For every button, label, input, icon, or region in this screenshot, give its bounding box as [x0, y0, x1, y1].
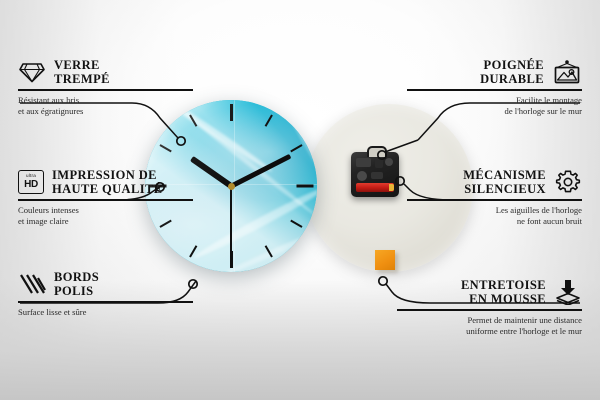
feature-verre-trempe: VERRE TREMPÉ Résistant aux bris et aux é… [18, 58, 193, 116]
clock-mechanism [351, 152, 399, 197]
divider [18, 199, 193, 201]
infographic-canvas: VERRE TREMPÉ Résistant aux bris et aux é… [0, 0, 600, 400]
ultra-hd-icon: ultra HD [18, 170, 44, 194]
feature-header: ultra HD IMPRESSION DE HAUTE QUALITÉ [18, 168, 193, 196]
aa-battery [356, 183, 394, 192]
feature-title: MÉCANISME SILENCIEUX [463, 168, 546, 196]
feature-description: Les aiguilles de l'horloge ne font aucun… [407, 205, 582, 226]
divider [407, 89, 582, 91]
feature-bords-polis: BORDS POLIS Surface lisse et sûre [18, 270, 193, 318]
feature-header: VERRE TREMPÉ [18, 58, 193, 86]
diamond-icon [18, 60, 46, 84]
feature-title: ENTRETOISE EN MOUSSE [461, 278, 546, 306]
feature-title: BORDS POLIS [54, 270, 99, 298]
feature-impression-haute-qualite: ultra HD IMPRESSION DE HAUTE QUALITÉ Cou… [18, 168, 193, 226]
feature-description: Surface lisse et sûre [18, 307, 193, 318]
mechanism-detail [385, 158, 393, 166]
foam-spacer-icon [554, 279, 582, 305]
feature-header: MÉCANISME SILENCIEUX [407, 168, 582, 196]
divider [18, 89, 193, 91]
divider [407, 199, 582, 201]
feature-description: Permet de maintenir une distance uniform… [397, 315, 582, 336]
divider [18, 301, 193, 303]
mechanism-detail [371, 172, 383, 179]
gear-icon [554, 169, 582, 195]
feature-title: VERRE TREMPÉ [54, 58, 110, 86]
feature-header: POIGNÉE DURABLE [407, 58, 582, 86]
polished-edges-icon [18, 272, 46, 296]
battery-positive-tip [389, 184, 394, 191]
foam-spacer [375, 250, 395, 270]
divider [397, 309, 582, 311]
feature-description: Couleurs intenses et image claire [18, 205, 193, 226]
mechanism-detail [375, 157, 383, 168]
feature-description: Facilite le montage de l'horloge sur le … [407, 95, 582, 116]
mechanism-detail [356, 158, 371, 167]
feature-entretoise-en-mousse: ENTRETOISE EN MOUSSE Permet de maintenir… [397, 278, 582, 336]
feature-title: IMPRESSION DE HAUTE QUALITÉ [52, 168, 162, 196]
mechanism-detail [357, 171, 367, 181]
mechanism-hanger-hook [367, 146, 387, 157]
feature-mecanisme-silencieux: MÉCANISME SILENCIEUX Les aiguilles de l'… [407, 168, 582, 226]
wall-hanger-icon [552, 59, 582, 85]
feature-poignee-durable: POIGNÉE DURABLE Facilite le montage de l… [407, 58, 582, 116]
feature-header: ENTRETOISE EN MOUSSE [397, 278, 582, 306]
feature-description: Résistant aux bris et aux égratignures [18, 95, 193, 116]
feature-title: POIGNÉE DURABLE [480, 58, 544, 86]
feature-header: BORDS POLIS [18, 270, 193, 298]
